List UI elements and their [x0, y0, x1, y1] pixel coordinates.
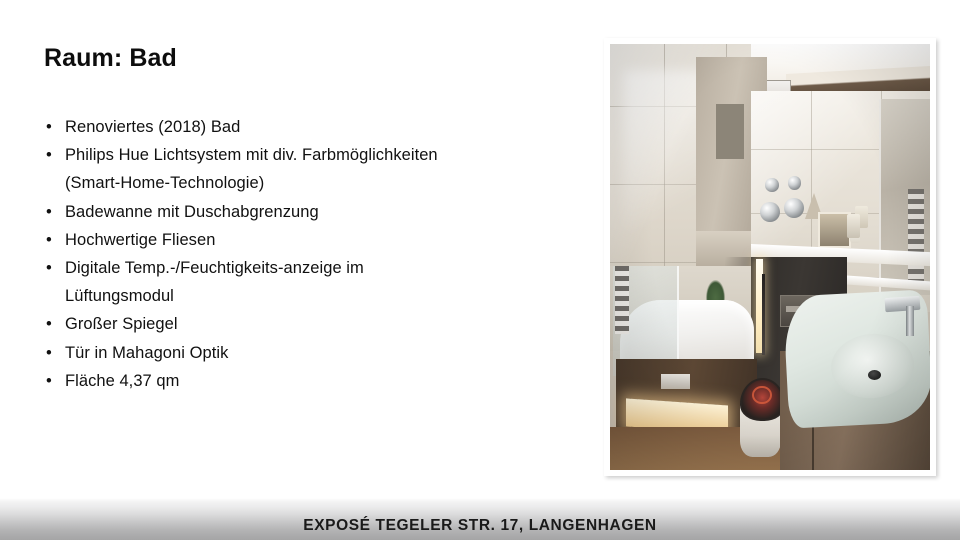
basin-faucet-spout: [906, 306, 914, 336]
list-item-label: Tür in Mahagoni Optik: [65, 344, 228, 362]
list-item-label: Renoviertes (2018) Bad: [65, 118, 240, 136]
toilet-brush-rod: [762, 274, 765, 355]
bathroom-photo: [610, 44, 930, 470]
decor-picture-frame: [818, 212, 851, 248]
list-item-label: Philips Hue Lichtsystem mit div. Farbmög…: [65, 146, 438, 192]
footer-bar: EXPOSÉ TEGELER STR. 17, LANGENHAGEN: [0, 498, 960, 540]
decor-plant: [706, 280, 725, 301]
list-item-label: Großer Spiegel: [65, 315, 178, 333]
feature-bullet-list: • Renoviertes (2018) Bad • Philips Hue L…: [44, 113, 444, 395]
bathtub-grab-handle: [661, 374, 690, 389]
list-item: • Fläche 4,37 qm: [44, 367, 444, 395]
bullet-icon: •: [46, 141, 52, 169]
bullet-icon: •: [46, 254, 52, 282]
slide-canvas: Raum: Bad • Renoviertes (2018) Bad • Phi…: [0, 0, 960, 540]
list-item-label: Badewanne mit Duschabgrenzung: [65, 203, 319, 221]
towel-reflection: [908, 189, 924, 283]
list-item-label: Digitale Temp.-/Feuchtigkeits-anzeige im…: [65, 259, 364, 305]
list-item-label: Hochwertige Fliesen: [65, 231, 215, 249]
bathroom-photo-frame: [604, 38, 936, 476]
shower-mixer-dial: [760, 202, 780, 222]
list-item: • Badewanne mit Duschabgrenzung: [44, 198, 444, 226]
shower-valve-knob: [788, 176, 801, 190]
list-item: • Digitale Temp.-/Feuchtigkeits-anzeige …: [44, 254, 444, 310]
list-item: • Großer Spiegel: [44, 310, 444, 338]
list-item: • Philips Hue Lichtsystem mit div. Farbm…: [44, 141, 444, 197]
footer-label: EXPOSÉ TEGELER STR. 17, LANGENHAGEN: [0, 517, 960, 535]
list-item: • Renoviertes (2018) Bad: [44, 113, 444, 141]
list-item: • Hochwertige Fliesen: [44, 226, 444, 254]
page-title: Raum: Bad: [44, 44, 177, 73]
bullet-icon: •: [46, 198, 52, 226]
list-item: • Tür in Mahagoni Optik: [44, 339, 444, 367]
bullet-icon: •: [46, 339, 52, 367]
bullet-icon: •: [46, 367, 52, 395]
hanging-towel: [615, 266, 629, 334]
shower-valve-knob: [765, 178, 778, 192]
bullet-icon: •: [46, 310, 52, 338]
list-item-label: Fläche 4,37 qm: [65, 372, 179, 390]
bullet-icon: •: [46, 113, 52, 141]
bullet-icon: •: [46, 226, 52, 254]
wall-recess: [716, 104, 745, 159]
washbasin-drain: [868, 370, 881, 380]
toothbrush-cup: [847, 214, 860, 237]
